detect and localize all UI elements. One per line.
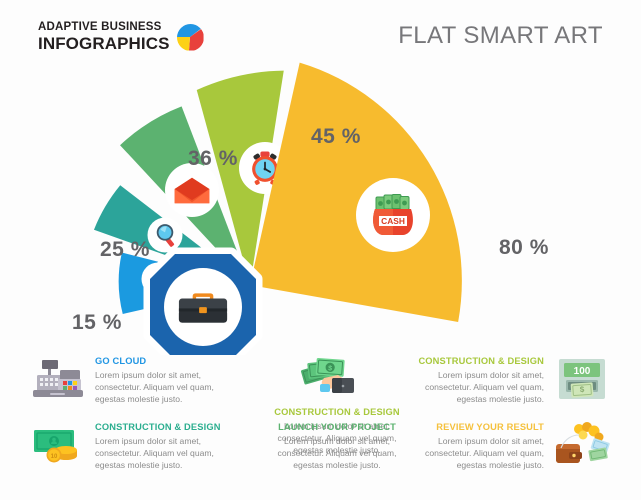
list-item-title: REVIEW YOUR RESULT bbox=[407, 422, 544, 432]
list-item-title: CONSTRUCTION & DESIGN bbox=[407, 356, 544, 366]
atm-machine-icon: 100 $ bbox=[553, 356, 611, 402]
list-item-text: LAUNCH YOUR PROJECT Lorem ipsum dolor si… bbox=[263, 422, 411, 472]
pct-label-25: 25 % bbox=[100, 238, 150, 262]
list-item[interactable]: 10 CONSTRUCTION & DESIGN Lorem ipsum dol… bbox=[30, 422, 232, 472]
center-hub[interactable] bbox=[150, 254, 256, 355]
pie-logo-icon bbox=[177, 24, 204, 51]
list-item-title: CONSTRUCTION & DESIGN bbox=[263, 407, 411, 417]
list-item-title: GO CLOUD bbox=[95, 356, 232, 366]
list-item-text: CONSTRUCTION & DESIGN Lorem ipsum dolor … bbox=[407, 356, 544, 406]
brand-line-2: INFOGRAPHICS bbox=[38, 35, 170, 52]
brand-logo-text: ADAPTIVE BUSINESS INFOGRAPHICS bbox=[38, 22, 170, 52]
list-item-body: Lorem ipsum dolor sit amet, consectetur.… bbox=[95, 369, 232, 406]
list-item-body: Lorem ipsum dolor sit amet, consectetur.… bbox=[263, 435, 411, 472]
list-item-text: CONSTRUCTION & DESIGN Lorem ipsum dolor … bbox=[95, 422, 232, 472]
list-item[interactable]: LAUNCH YOUR PROJECT Lorem ipsum dolor si… bbox=[263, 422, 411, 472]
list-item-text: REVIEW YOUR RESULT Lorem ipsum dolor sit… bbox=[407, 422, 544, 472]
svg-text:10: 10 bbox=[51, 454, 58, 460]
brand-logo: ADAPTIVE BUSINESS INFOGRAPHICS bbox=[38, 22, 204, 52]
fan-chart: CASH bbox=[0, 55, 641, 355]
wallet-coins-icon bbox=[553, 422, 611, 468]
fan-segment-80[interactable] bbox=[249, 61, 469, 322]
money-bag-icon bbox=[373, 195, 413, 236]
cash-register-icon bbox=[30, 356, 86, 402]
pct-label-80: 80 % bbox=[499, 236, 549, 260]
atm-display-value: 100 bbox=[574, 366, 591, 377]
page-title: FLAT SMART ART bbox=[398, 22, 603, 50]
list-item[interactable]: 100 $ CONSTRUCTION & DESIGN Lorem ipsum … bbox=[407, 356, 611, 406]
pct-label-36: 36 % bbox=[188, 147, 238, 171]
list-item-title: CONSTRUCTION & DESIGN bbox=[95, 422, 232, 432]
infographic-slide: ADAPTIVE BUSINESS INFOGRAPHICS FLAT SMAR… bbox=[0, 0, 641, 500]
pct-label-15: 15 % bbox=[72, 311, 122, 335]
list-item-body: Lorem ipsum dolor sit amet, consectetur.… bbox=[95, 435, 232, 472]
svg-text:$: $ bbox=[328, 365, 332, 372]
list-item[interactable]: GO CLOUD Lorem ipsum dolor sit amet, con… bbox=[30, 356, 232, 406]
brand-line-1: ADAPTIVE BUSINESS bbox=[38, 22, 170, 34]
list-item[interactable]: REVIEW YOUR RESULT Lorem ipsum dolor sit… bbox=[407, 422, 611, 472]
banknote-coins-icon: 10 bbox=[30, 422, 86, 468]
list-item-body: Lorem ipsum dolor sit amet, consectetur.… bbox=[407, 435, 544, 472]
hand-money-wallet-icon: $ bbox=[298, 356, 376, 396]
list-item-title: LAUNCH YOUR PROJECT bbox=[263, 422, 411, 432]
pct-label-45: 45 % bbox=[311, 125, 361, 149]
list-item-text: GO CLOUD Lorem ipsum dolor sit amet, con… bbox=[95, 356, 232, 406]
legend-items: GO CLOUD Lorem ipsum dolor sit amet, con… bbox=[0, 352, 641, 500]
list-item-body: Lorem ipsum dolor sit amet, consectetur.… bbox=[407, 369, 544, 406]
